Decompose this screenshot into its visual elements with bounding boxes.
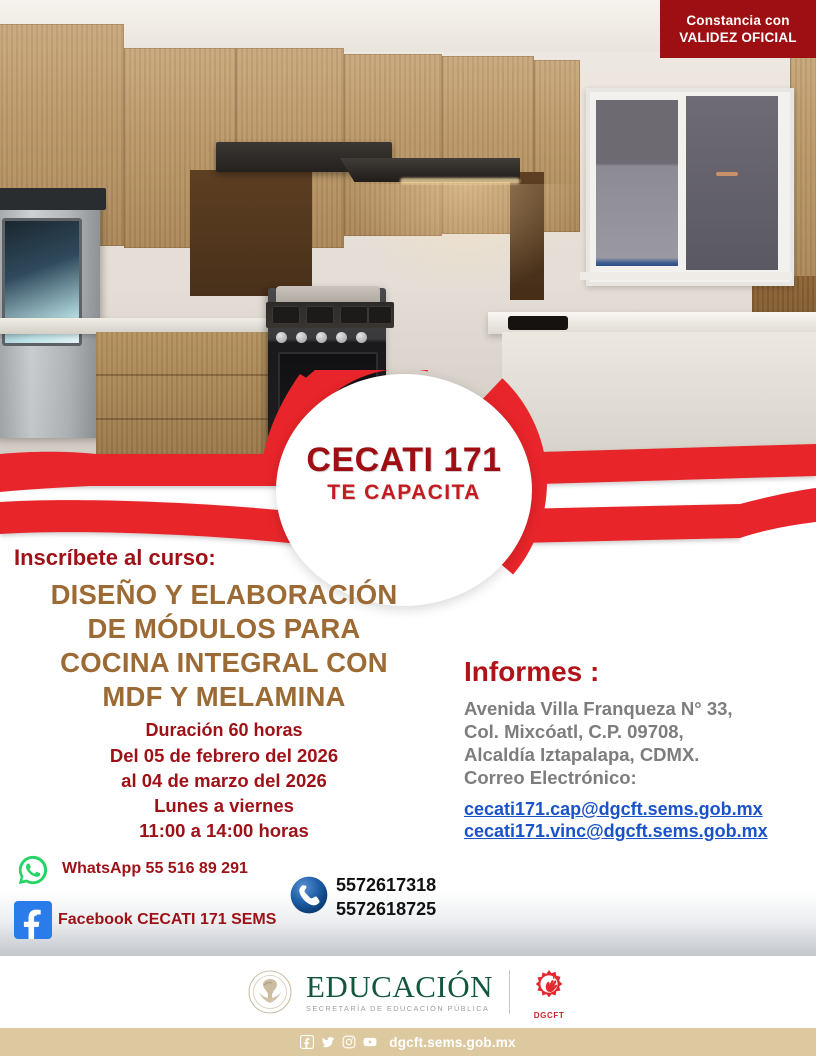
education-subtitle: SECRETARÍA DE EDUCACIÓN PÚBLICA [306, 1003, 493, 1014]
course-duration: Duración 60 horas [10, 718, 438, 743]
logo-name: CECATI 171 [306, 440, 501, 480]
course-days: Lunes a viernes [10, 793, 438, 818]
course-title-line: MDF Y MELAMINA [10, 680, 438, 714]
phone-number-1: 5572617318 [336, 873, 436, 897]
instagram-icon[interactable] [342, 1035, 356, 1049]
education-wordmark: EDUCACIÓN SECRETARÍA DE EDUCACIÓN PÚBLIC… [306, 970, 493, 1014]
course-schedule: Duración 60 horas Del 05 de febrero del … [10, 718, 438, 843]
enroll-prompt: Inscríbete al curso: [14, 545, 216, 571]
course-title-line: COCINA INTEGRAL CON [10, 646, 438, 680]
dgcft-logo: DGCFT [526, 964, 572, 1020]
email-link-vinc[interactable]: cecati171.vinc@dgcft.sems.gob.mx [464, 820, 768, 842]
institutional-footer: EDUCACIÓN SECRETARÍA DE EDUCACIÓN PÚBLIC… [0, 956, 816, 1028]
cecati-logo: CECATI 171 TE CAPACITA [276, 440, 532, 536]
email-list: cecati171.cap@dgcft.sems.gob.mx cecati17… [464, 798, 768, 842]
address-line: Avenida Villa Franqueza N° 33, [464, 697, 812, 720]
course-title-line: DISEÑO Y ELABORACIÓN [10, 578, 438, 612]
twitter-icon[interactable] [321, 1035, 335, 1049]
address-line: Alcaldía Iztapalapa, CDMX. [464, 743, 812, 766]
course-title-line: DE MÓDULOS PARA [10, 612, 438, 646]
dgcft-gear-icon [526, 964, 572, 1010]
course-hours: 11:00 a 14:00 horas [10, 818, 438, 843]
badge-line-1: Constancia con [686, 12, 789, 29]
facebook-icon[interactable] [14, 901, 52, 939]
youtube-icon[interactable] [363, 1035, 377, 1049]
course-date-to: al 04 de marzo del 2026 [10, 768, 438, 793]
phone-icon[interactable] [289, 875, 329, 915]
whatsapp-icon[interactable] [16, 853, 50, 887]
education-title: EDUCACIÓN [306, 970, 493, 1003]
address-line: Col. Mixcóatl, C.P. 09708, [464, 720, 812, 743]
badge-line-2: VALIDEZ OFICIAL [679, 29, 797, 46]
whatsapp-label: WhatsApp 55 516 89 291 [62, 860, 248, 878]
informes-address: Avenida Villa Franqueza N° 33, Col. Mixc… [464, 697, 812, 789]
website-bar: dgcft.sems.gob.mx [0, 1028, 816, 1056]
phone-number-2: 5572618725 [336, 897, 436, 921]
facebook-label: Facebook CECATI 171 SEMS [58, 911, 276, 929]
course-date-from: Del 05 de febrero del 2026 [10, 743, 438, 768]
website-url[interactable]: dgcft.sems.gob.mx [389, 1035, 515, 1050]
facebook-icon-small[interactable] [300, 1035, 314, 1049]
poster: Constancia con VALIDEZ OFICIAL CECATI 17… [0, 0, 816, 1056]
address-line: Correo Electrónico: [464, 766, 812, 789]
dgcft-label: DGCFT [534, 1011, 565, 1020]
logo-tagline: TE CAPACITA [327, 480, 480, 506]
email-link-cap[interactable]: cecati171.cap@dgcft.sems.gob.mx [464, 798, 768, 820]
informes-heading: Informes : [464, 655, 599, 689]
footer-divider [509, 970, 510, 1014]
phone-numbers: 5572617318 5572618725 [336, 873, 436, 921]
course-title: DISEÑO Y ELABORACIÓN DE MÓDULOS PARA COC… [10, 578, 438, 714]
sep-logo: EDUCACIÓN SECRETARÍA DE EDUCACIÓN PÚBLIC… [244, 968, 493, 1016]
mexico-coat-of-arms-icon [244, 968, 296, 1016]
validez-oficial-badge: Constancia con VALIDEZ OFICIAL [660, 0, 816, 58]
